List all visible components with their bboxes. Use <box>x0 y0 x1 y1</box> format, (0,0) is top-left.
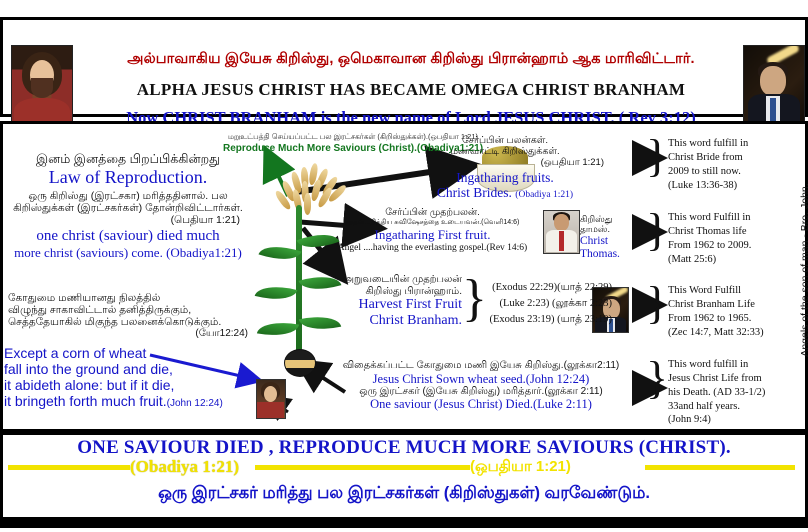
node4-tamil-2: ஒரு இரட்சகர் (இயேசு கிறிஸ்து) மரித்தார்.… <box>322 386 640 398</box>
node4-english-2: One saviour (Jesus Christ) Died.(Luke 2:… <box>322 397 640 411</box>
header-english-line: ALPHA JESUS CHRIST HAS BECAME OMEGA CHRI… <box>81 80 741 100</box>
header-tamil-line: அல்பாவாகிய இயேசு கிறிஸ்து, ஒமெகாவான கிறி… <box>81 51 741 69</box>
note4-line1: This word fulfill in <box>668 358 790 372</box>
note2-line2: Christ Thomas life <box>668 225 792 239</box>
note2-line1: This word Fulfill in <box>668 211 792 225</box>
node1-english-2: Christ Brides. <box>437 185 512 200</box>
node-ingathering-fruits: சேர்ப்பின் பலன்கள். மணவாட்டி கிறிஸ்துக்க… <box>370 136 640 201</box>
law-english-body-1: one christ (saviour) died much <box>8 228 248 245</box>
note4-line5: (John 9:4) <box>668 413 790 427</box>
vertical-credit-text: Angels of the son of man - Bro. John. <box>799 125 808 415</box>
note1-line1: This word fulfill in <box>668 137 788 151</box>
node3-tamil-1: அறுவடையின் முதற்பலன் <box>312 274 462 286</box>
node1-english-1: Ingatharing fruits. <box>370 170 640 186</box>
header-panel: அல்பாவாகிய இயேசு கிறிஸ்து, ஒமெகாவான கிறி… <box>3 20 805 114</box>
wheat-english-1: Except a corn of wheat <box>4 345 264 361</box>
footer-rule-right <box>645 465 795 470</box>
node3-tamil-2: கிறிஸ்து பிரான்ஹாம். <box>312 286 462 298</box>
branham-portrait-image <box>743 45 805 131</box>
poster-root: அல்பாவாகிய இயேசு கிறிஸ்து, ஒமெகாவான கிறி… <box>0 0 808 532</box>
node1-english-ref: (Obadiya 1:21) <box>515 190 573 200</box>
wheat-tamil-1: கோதுமை மணியானது நிலத்தில் <box>8 292 258 304</box>
node2-english-1: Ingatharing First fruit. <box>320 228 545 243</box>
footer-rule-left <box>8 465 130 470</box>
note2-line4: (Matt 25:6) <box>668 253 792 267</box>
footer-line-1: ONE SAVIOUR DIED , REPRODUCE MUCH MORE S… <box>0 437 808 459</box>
footer-line-3: ஒரு இரட்சகர் மரித்து பல இரட்சகர்கள் (கிற… <box>0 484 808 505</box>
brace-4: } <box>646 356 668 400</box>
node2-tamil-2: தூதன்...நித்திய சுவிஷேசத்தை உடையவன்.(வெள… <box>320 219 545 227</box>
law-tamil-title: இனம் இனத்தை பிறப்பிக்கின்றது <box>8 152 248 166</box>
note3-line1: This Word Fulfill <box>668 284 794 298</box>
note1-line2: Christ Bride from <box>668 151 788 165</box>
wheat-tamil-ref: (யோ12:24) <box>8 328 258 340</box>
node-harvest-first-fruit: அறுவடையின் முதற்பலன் கிறிஸ்து பிரான்ஹாம்… <box>312 274 462 329</box>
wheat-tamil-2: விழுந்து சாகாவிட்டால் தனித்திருக்கும், <box>8 304 258 316</box>
note1-line3: 2009 to still now. <box>668 165 788 179</box>
wheat-tamil-3: செத்ததேயாகில் மிகுந்த பலனைக்கொடுக்கும். <box>8 316 258 328</box>
wheat-seed-icon <box>284 349 316 377</box>
note-3: This Word Fulfill Christ Branham Life Fr… <box>668 284 794 339</box>
wheat-english-2: fall into the ground and die, <box>4 361 264 377</box>
footer-ref-english: (Obadiya 1:21) <box>130 457 239 477</box>
node3-english-1: Harvest First Fruit <box>312 297 462 313</box>
node3-refs: (Exodus 22:29)(யாத் 22:29) (Luke 2:23) (… <box>482 280 612 327</box>
wheat-english-4: it bringeth forth much fruit. <box>4 393 167 409</box>
node2-label-tamil: கிறிஸ்து தாமஸ். <box>580 214 644 235</box>
christ-thomas-photo <box>543 210 580 254</box>
node3-ref2: (Luke 2:23) (லூக்கா 2:23) <box>482 296 612 312</box>
node2-label-english: Christ Thomas. <box>580 235 644 261</box>
node-sown-wheat-seed: விதைக்கப்பட்ட கோதுமை மணி இயேசு கிறிஸ்து.… <box>322 360 640 412</box>
law-english-title: Law of Reproduction. <box>8 167 248 188</box>
note-4: This word fulfill in Jesus Christ Life f… <box>668 358 790 427</box>
node2-tamil-1: சேர்ப்பின் முதற்பலன். <box>320 208 545 219</box>
footer-rule-mid <box>255 465 470 470</box>
footer-ref-tamil: (ஒபதியா 1:21) <box>470 458 571 477</box>
note3-line2: Christ Branham Life <box>668 298 794 312</box>
law-tamil-body-2: கிறிஸ்துக்கள் (இரட்சகர்கள்) தோன்றிவிட்டா… <box>8 202 248 214</box>
note1-line4: (Luke 13:36-38) <box>668 179 788 193</box>
brace-1: } <box>646 134 668 178</box>
note-1: This word fulfill in Christ Bride from 2… <box>668 137 788 192</box>
brace-3: } <box>646 281 668 325</box>
brace-2: } <box>646 208 668 252</box>
node1-tamil-ref: (ஒபதியா 1:21) <box>370 158 640 169</box>
law-tamil-ref: (பெதியா 1:21) <box>8 214 248 226</box>
note3-line4: (Zec 14:7, Matt 32:33) <box>668 326 794 340</box>
node-ingathering-first-fruit: சேர்ப்பின் முதற்பலன். தூதன்...நித்திய சு… <box>320 208 545 254</box>
note4-line3: his Death. (AD 33-1/2) <box>668 386 790 400</box>
note-2: This word Fulfill in Christ Thomas life … <box>668 211 792 266</box>
node2-english-2: Angel ....having the everlasting gospel.… <box>320 243 545 254</box>
law-english-body-2: more christ (saviours) come. (Obadiya1:2… <box>8 246 248 261</box>
node4-english-1: Jesus Christ Sown wheat seed.(John 12:24… <box>322 372 640 386</box>
vertical-credit-bar: Angels of the son of man - Bro. John. <box>780 124 805 429</box>
node4-tamil-1: விதைக்கப்பட்ட கோதுமை மணி இயேசு கிறிஸ்து.… <box>322 360 640 372</box>
note3-line3: From 1962 to 1965. <box>668 312 794 326</box>
jesus-portrait-image <box>11 45 73 131</box>
wheat-english-3: it abideth alone: but if it die, <box>4 377 264 393</box>
note4-line2: Jesus Christ Life from <box>668 372 790 386</box>
node3-ref3: (Exodus 23:19) (யாத் 23:19) <box>482 312 612 328</box>
node3-ref1: (Exodus 22:29)(யாத் 22:29) <box>482 280 612 296</box>
law-tamil-body-1: ஒரு கிறிஸ்து (இரட்சகா) மரித்ததினால். பல <box>8 190 248 202</box>
note2-line3: From 1962 to 2009. <box>668 239 792 253</box>
node3-english-2: Christ Branham. <box>312 313 462 329</box>
wheat-english-ref: (John 12:24) <box>167 398 223 409</box>
note4-line4: 33and half years. <box>668 400 790 414</box>
